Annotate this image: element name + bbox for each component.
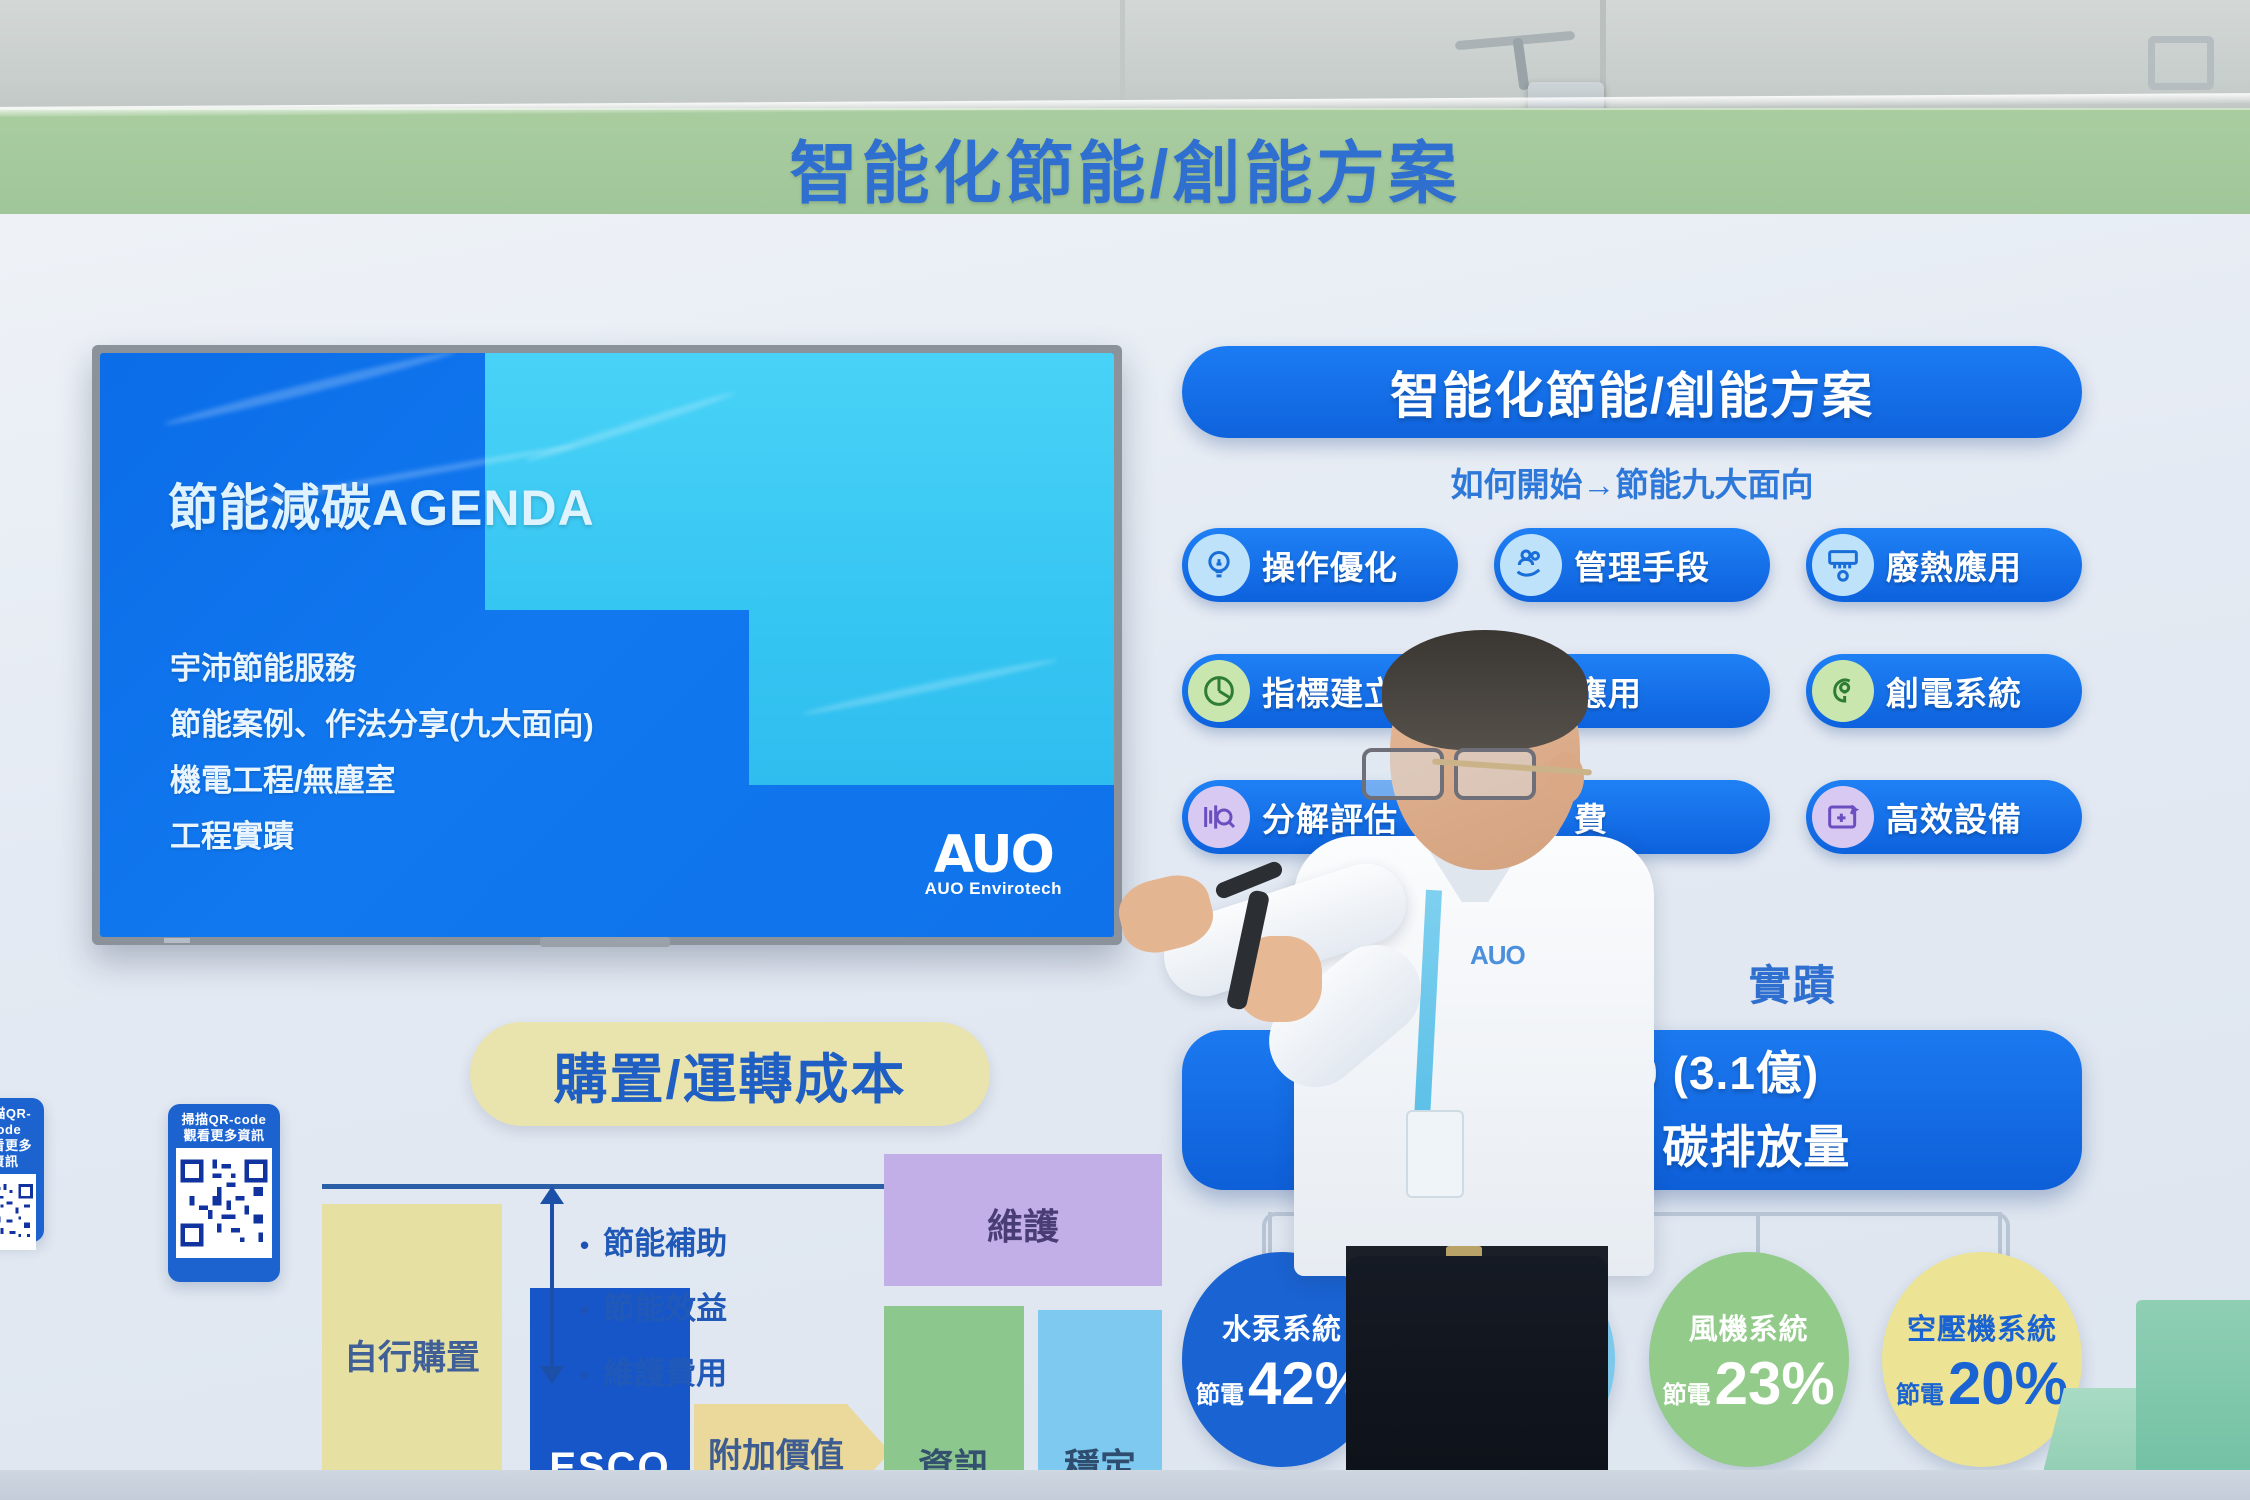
booth-banner-title: 智能化節能/創能方案 bbox=[0, 118, 2250, 217]
cost-section-title-pill: 購置/運轉成本 bbox=[470, 1022, 990, 1126]
auo-logo-mark: AUO bbox=[925, 825, 1062, 885]
ceiling-bracket bbox=[2148, 36, 2214, 90]
performance-circle-title: 風機系統 bbox=[1689, 1306, 1809, 1348]
qr-code-image bbox=[0, 1174, 36, 1250]
performance-circle-title: 空壓機系統 bbox=[1907, 1306, 2057, 1348]
tv-screen: 節能減碳AGENDA 宇沛節能服務 節能案例、作法分享(九大面向) 機電工程/無… bbox=[100, 353, 1114, 937]
qr-code-caption-line-1: 掃描QR-code bbox=[176, 1112, 272, 1128]
chart-bar-label: 自行購置 bbox=[344, 1339, 480, 1377]
glasses-icon bbox=[1362, 748, 1542, 794]
chart-bar-maintenance: 維護 bbox=[884, 1154, 1162, 1286]
chart-annotation-item: 維護費用 bbox=[580, 1342, 727, 1407]
slide-title: 節能減碳AGENDA bbox=[168, 468, 595, 540]
brain-gear-icon bbox=[1812, 660, 1874, 722]
aspect-pill-label: 廢熱應用 bbox=[1886, 541, 2022, 589]
board-header-pill: 智能化節能/創能方案 bbox=[1182, 346, 2082, 438]
aspect-pill-high-efficiency-equipment[interactable]: 高效設備 bbox=[1806, 780, 2082, 854]
equipment-plus-icon bbox=[1812, 786, 1874, 848]
aspect-pill-label: 操作優化 bbox=[1262, 541, 1398, 589]
slide-cyan-block-lower bbox=[749, 610, 1114, 785]
tv-stand bbox=[540, 937, 670, 947]
performance-circle-prefix: 節電 bbox=[1896, 1383, 1944, 1408]
slide-streak bbox=[163, 353, 457, 429]
qr-code-card[interactable]: 掃描QR-code 觀看更多資訊 bbox=[168, 1104, 280, 1282]
performance-circle-value: 23% bbox=[1715, 1354, 1835, 1414]
performance-circle-value-group: 節電 20% bbox=[1896, 1354, 2068, 1414]
presenter-ear bbox=[1546, 752, 1584, 804]
aspect-pill-power-generation[interactable]: 創電系統 bbox=[1806, 654, 2082, 728]
performance-connector-drop bbox=[1756, 1212, 1760, 1256]
presentation-display[interactable]: 節能減碳AGENDA 宇沛節能服務 節能案例、作法分享(九大面向) 機電工程/無… bbox=[92, 345, 1122, 945]
presenter-trousers bbox=[1346, 1256, 1608, 1500]
chart-annotation-item: 節能效益 bbox=[580, 1277, 727, 1342]
board-subtitle: 如何開始→節能九大面向 bbox=[1182, 458, 2082, 506]
chart-annotation-list: 節能補助 節能效益 維護費用 bbox=[580, 1212, 727, 1407]
chart-delta-arrow-line bbox=[550, 1192, 554, 1382]
presenter-hair bbox=[1382, 630, 1588, 750]
aspect-pill-waste-heat[interactable]: 廢熱應用 bbox=[1806, 528, 2082, 602]
lightbulb-icon bbox=[1188, 534, 1250, 596]
chart-bar-label: 維護 bbox=[884, 1198, 1162, 1250]
aspect-pill-operation-optimization[interactable]: 操作優化 bbox=[1182, 528, 1458, 602]
cost-comparison-chart: 自行購置 ESCO 附加價值 資訊 穩定 維護 節能補助 節能效益 維護費用 bbox=[322, 1184, 1162, 1500]
board-header-label: 智能化節能/創能方案 bbox=[1390, 356, 1874, 428]
qr-code-card[interactable]: 掃描QR-code 觀看更多資訊 bbox=[0, 1098, 44, 1242]
aspect-pill-label: 創電系統 bbox=[1886, 667, 2022, 715]
exhibition-booth-photo: 智能化節能/創能方案 節能減碳AGENDA 宇沛節能服務 節能案例、作法分享(九… bbox=[0, 0, 2250, 1500]
qr-code-caption-line-2: 觀看更多資訊 bbox=[176, 1128, 272, 1144]
qr-code-caption-line-1: 掃描QR-code bbox=[0, 1106, 36, 1138]
slide-bullet: 宇沛節能服務 bbox=[170, 641, 594, 697]
presenter: AUO bbox=[1270, 640, 1690, 1500]
cost-section-title: 購置/運轉成本 bbox=[553, 1035, 906, 1114]
magnifier-analysis-icon bbox=[1188, 786, 1250, 848]
qr-code-image bbox=[176, 1148, 272, 1258]
pie-chart-icon bbox=[1188, 660, 1250, 722]
aspect-pill-management[interactable]: 管理手段 bbox=[1494, 528, 1770, 602]
aspect-pill-label: 高效設備 bbox=[1886, 793, 2022, 841]
auo-logo: AUO AUO Envirotech bbox=[925, 825, 1062, 899]
chart-delta-arrow-down bbox=[540, 1366, 564, 1384]
slide-bullet: 節能案例、作法分享(九大面向) bbox=[170, 697, 594, 753]
presenter-badge bbox=[1406, 1110, 1464, 1198]
heat-recovery-icon bbox=[1812, 534, 1874, 596]
slide-bullet: 工程實蹟 bbox=[170, 809, 594, 865]
performance-connector-drop bbox=[1998, 1212, 2002, 1256]
slide-bullet: 機電工程/無塵室 bbox=[170, 753, 594, 809]
auo-logo-subtitle: AUO Envirotech bbox=[925, 879, 1062, 899]
qr-code-caption-line-2: 觀看更多資訊 bbox=[0, 1138, 36, 1170]
tv-power-led bbox=[164, 938, 190, 943]
chart-delta-arrow-up bbox=[540, 1186, 564, 1204]
presenter-shirt-logo: AUO bbox=[1470, 940, 1525, 971]
slide-bullet-list: 宇沛節能服務 節能案例、作法分享(九大面向) 機電工程/無塵室 工程實蹟 bbox=[170, 641, 594, 865]
performance-circle-value: 20% bbox=[1948, 1354, 2068, 1414]
people-hand-icon bbox=[1500, 534, 1562, 596]
booth-floor bbox=[0, 1470, 2250, 1500]
chart-annotation-item: 節能補助 bbox=[580, 1212, 727, 1277]
chart-bar-self-purchase: 自行購置 bbox=[322, 1204, 502, 1500]
aspect-pill-label: 管理手段 bbox=[1574, 541, 1710, 589]
performance-circle-prefix: 節電 bbox=[1196, 1383, 1244, 1408]
